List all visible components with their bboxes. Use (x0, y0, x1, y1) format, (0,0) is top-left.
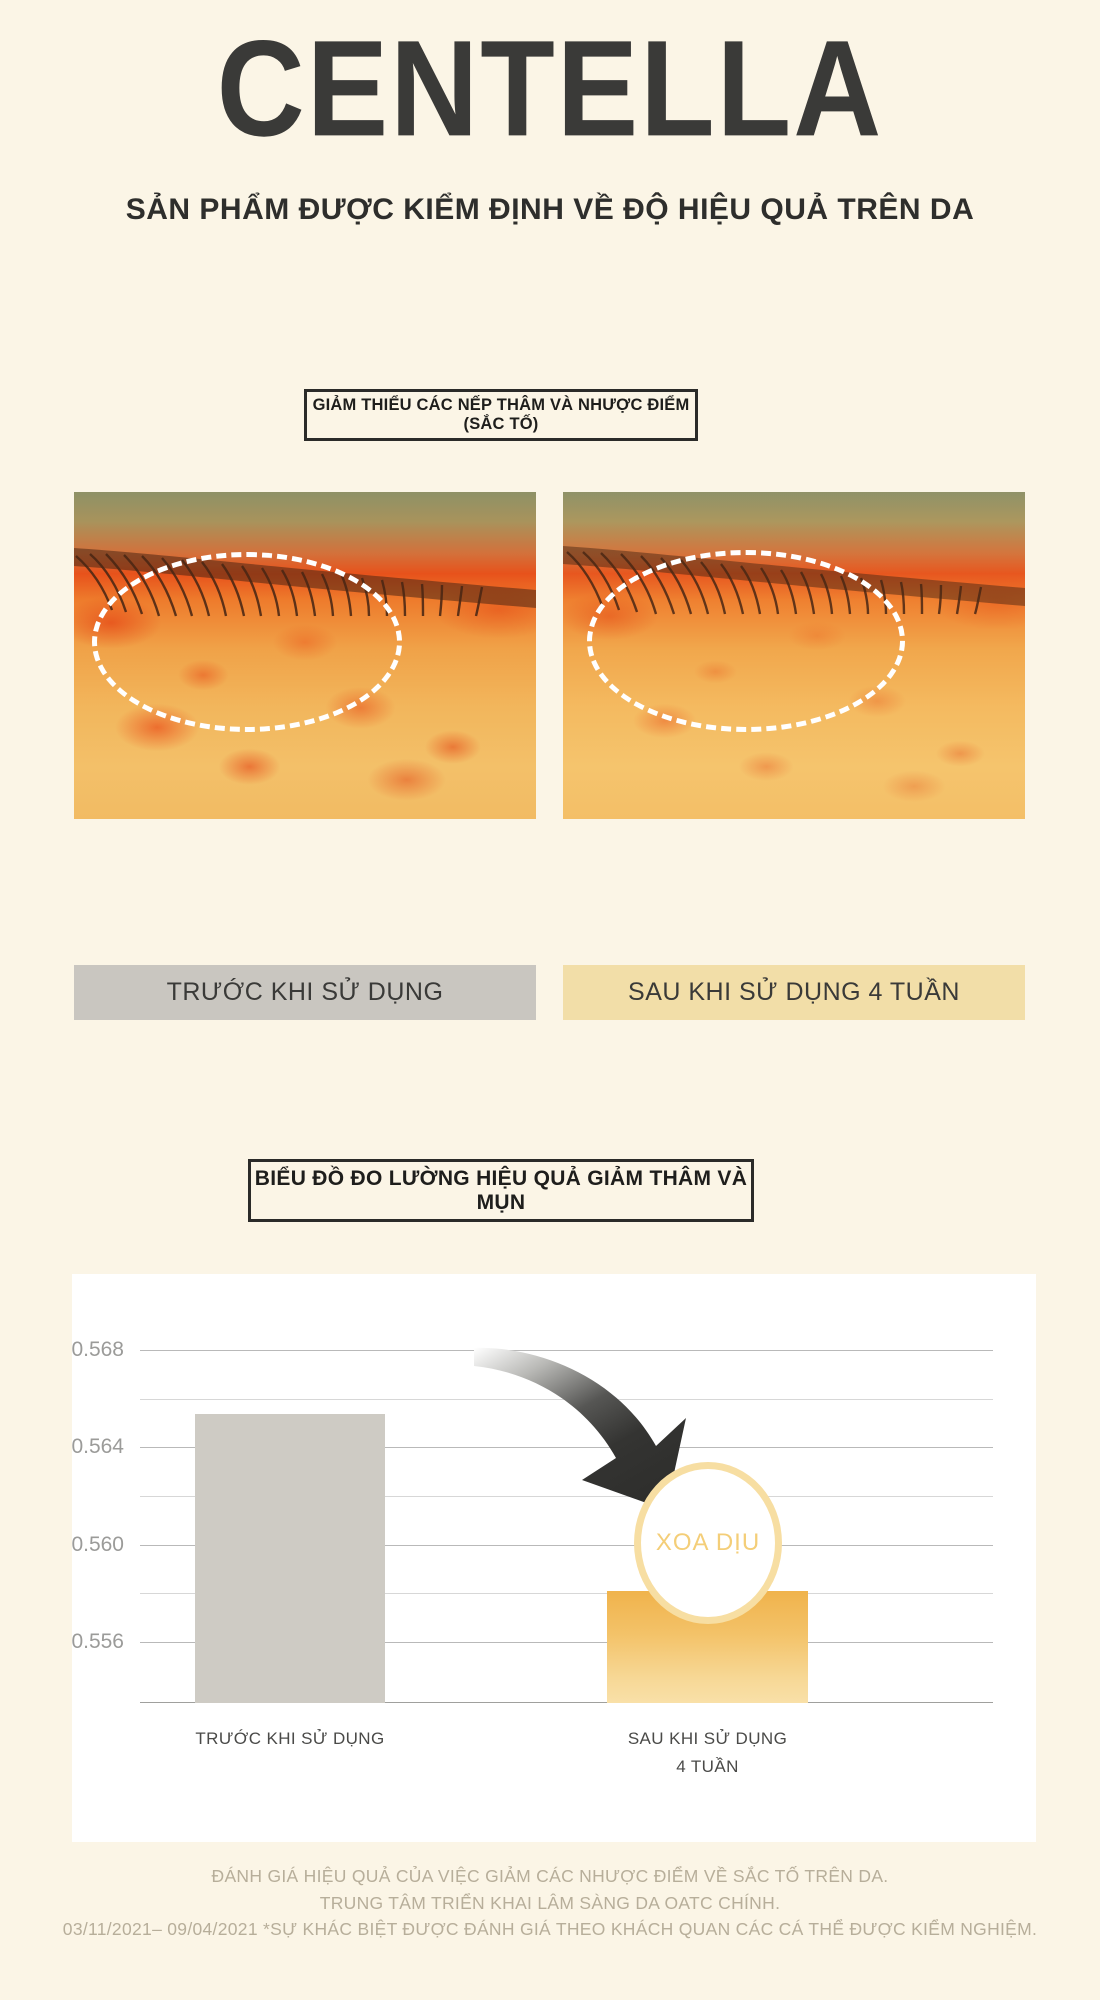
ytick-label-2: 0.560 (71, 1533, 124, 1557)
after-photo (563, 492, 1025, 819)
highlight-ellipse-before (92, 552, 402, 732)
plot-area: 0.568 0.564 0.560 0.556 XOA DỊU (140, 1350, 993, 1703)
bar-before[interactable] (195, 1414, 385, 1703)
ytick-label-3: 0.556 (71, 1630, 124, 1654)
after-caption: SAU KHI SỬ DỤNG 4 TUẦN (563, 965, 1025, 1020)
ytick-label-0: 0.568 (71, 1338, 124, 1362)
before-caption: TRƯỚC KHI SỬ DỤNG (74, 965, 536, 1020)
xtick-after-line2: 4 TUẦN (607, 1753, 808, 1781)
section-label-wrinkles: GIẢM THIỂU CÁC NẾP THÂM VÀ NHƯỢC ĐIỂM (S… (304, 389, 698, 441)
xoa-diu-badge: XOA DỊU (634, 1462, 782, 1624)
xtick-label-before: TRƯỚC KHI SỬ DỤNG (195, 1725, 385, 1753)
footnote-line-3: 03/11/2021– 09/04/2021 *SỰ KHÁC BIỆT ĐƯỢ… (0, 1916, 1100, 1943)
xtick-after-line1: SAU KHI SỬ DỤNG (607, 1725, 808, 1753)
xoa-diu-label: XOA DỊU (656, 1529, 760, 1557)
chart-card: 0.568 0.564 0.560 0.556 XOA DỊU (72, 1274, 1036, 1842)
page-title: CENTELLA (0, 20, 1100, 157)
section-label-chart: BIỂU ĐỒ ĐO LƯỜNG HIỆU QUẢ GIẢM THÂM VÀ M… (248, 1159, 754, 1222)
page-subtitle: SẢN PHẨM ĐƯỢC KIỂM ĐỊNH VỀ ĐỘ HIỆU QUẢ T… (0, 193, 1100, 227)
ytick-label-1: 0.564 (71, 1435, 124, 1459)
xtick-label-after: SAU KHI SỬ DỤNG 4 TUẦN (607, 1725, 808, 1781)
highlight-ellipse-after (587, 550, 905, 732)
footnote-line-2: TRUNG TÂM TRIỂN KHAI LÂM SÀNG DA OATC CH… (0, 1890, 1100, 1917)
before-photo (74, 492, 536, 819)
xtick-before-line1: TRƯỚC KHI SỬ DỤNG (195, 1725, 385, 1753)
footnote-line-1: ĐÁNH GIÁ HIỆU QUẢ CỦA VIỆC GIẢM CÁC NHƯỢ… (0, 1863, 1100, 1890)
footnote: ĐÁNH GIÁ HIỆU QUẢ CỦA VIỆC GIẢM CÁC NHƯỢ… (0, 1863, 1100, 1943)
